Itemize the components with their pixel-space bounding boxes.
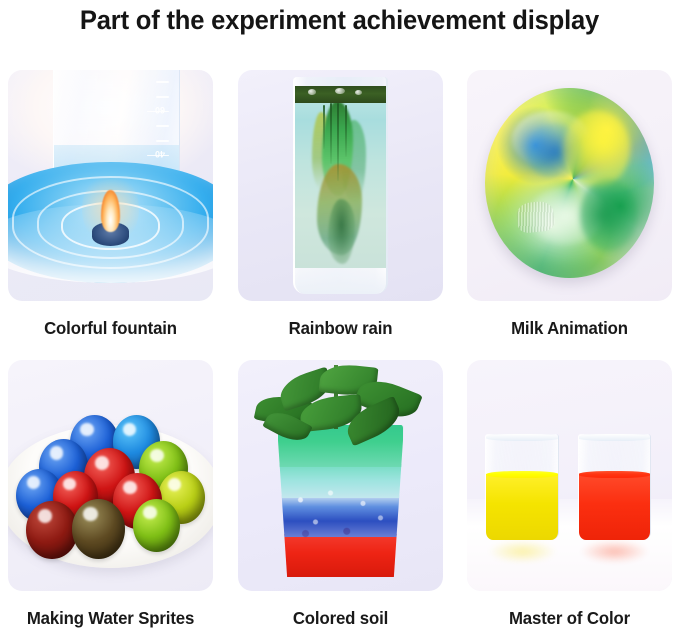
water-bead (26, 501, 77, 559)
grid-item-milk-animation[interactable]: Milk Animation (467, 70, 672, 339)
beaker-rim (485, 434, 559, 441)
experiment-grid: 806040 Colorful fountain (0, 62, 679, 634)
milk-dish (485, 88, 653, 277)
yellow-beaker-reflection (488, 540, 558, 563)
clear-cup (277, 425, 404, 577)
soil-crystal-texture (278, 486, 403, 544)
dye-streak (345, 105, 347, 157)
red-liquid (579, 474, 651, 540)
colorful-fountain-photo[interactable]: 806040 (8, 70, 213, 301)
tall-glass (293, 77, 387, 294)
dish-texture (516, 200, 556, 234)
grid-item-master-of-color[interactable]: Master of Color (467, 360, 672, 629)
tile-caption: Milk Animation (471, 317, 668, 339)
grid-item-colored-soil[interactable]: Colored soil (238, 360, 443, 629)
red-beaker-reflection (580, 540, 650, 563)
milk-animation-photo[interactable] (467, 70, 672, 301)
dye-streak (337, 103, 339, 181)
master-of-color-photo[interactable] (467, 360, 672, 591)
tile-caption: Master of Color (471, 607, 668, 629)
dye-streak (330, 103, 332, 164)
tile-caption: Making Water Sprites (12, 607, 209, 629)
colored-soil-photo[interactable] (238, 360, 443, 591)
grid-item-rainbow-rain[interactable]: Rainbow rain (238, 70, 443, 339)
experiment-showcase-page: Part of the experiment achievement displ… (0, 0, 679, 634)
glass-base (295, 268, 385, 294)
grid-item-making-water-sprites[interactable]: Making Water Sprites (8, 360, 213, 629)
water-sprites-photo[interactable] (8, 360, 213, 591)
dye-plume-bottom (328, 199, 355, 264)
yellow-liquid (486, 474, 558, 540)
grid-item-colorful-fountain[interactable]: 806040 Colorful fountain (8, 70, 213, 339)
yellow-beaker (485, 434, 559, 540)
tile-caption: Colored soil (242, 607, 439, 629)
red-beaker (578, 434, 652, 540)
beaker-rim (578, 434, 652, 441)
candle-flame (101, 190, 119, 232)
page-title: Part of the experiment achievement displ… (12, 2, 667, 38)
water-bead (72, 499, 125, 559)
green-dye-swirl (580, 179, 637, 251)
tile-caption: Colorful fountain (12, 317, 209, 339)
water-bead (133, 499, 180, 552)
dish-gloss (512, 111, 589, 168)
tile-caption: Rainbow rain (242, 317, 439, 339)
rainbow-rain-photo[interactable] (238, 70, 443, 301)
surface-bubble (355, 90, 362, 95)
surface-bubble (308, 89, 316, 95)
